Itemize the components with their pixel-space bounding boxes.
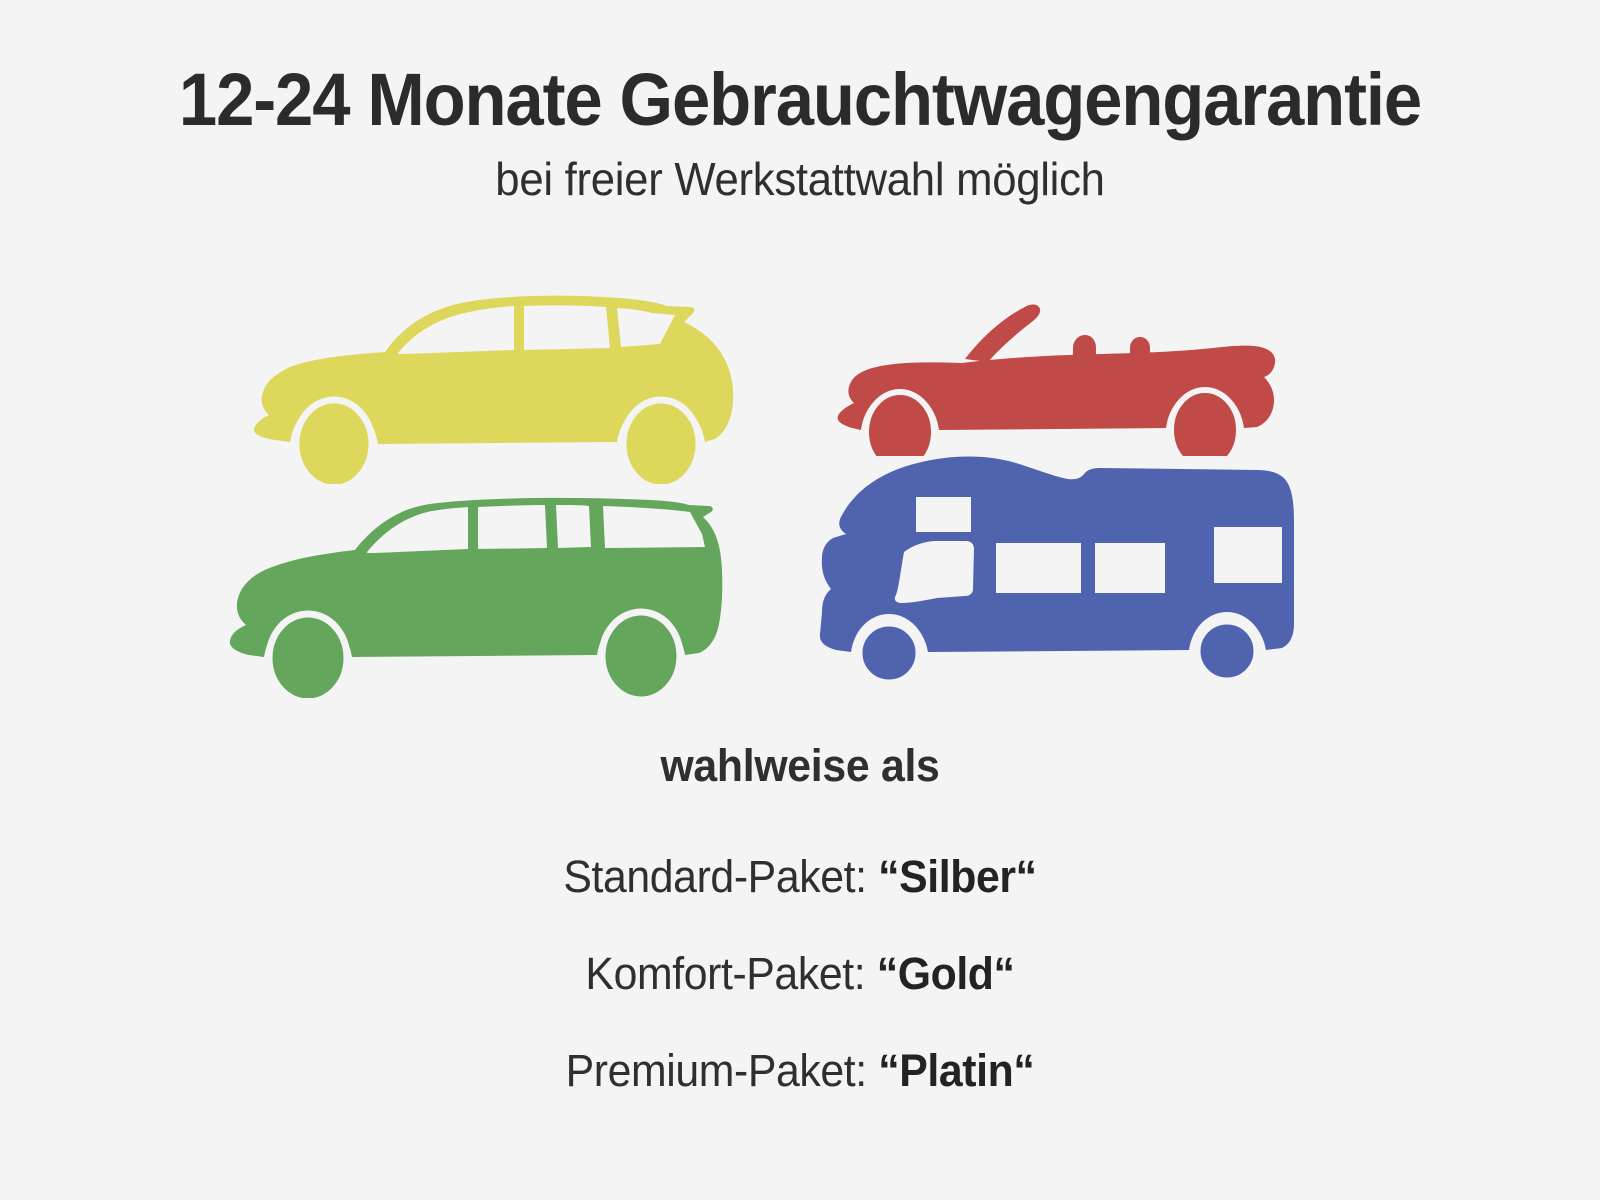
package-item-standard: Standard-Paket: “Silber“ bbox=[40, 854, 1560, 899]
page-title: 12-24 Monate Gebrauchtwagengarantie bbox=[56, 62, 1544, 137]
station-wagon-icon bbox=[215, 478, 750, 698]
page-subtitle: bei freier Werkstattwahl möglich bbox=[40, 155, 1560, 203]
motorhome-icon bbox=[800, 446, 1305, 681]
package-tier-komfort: “Gold“ bbox=[877, 948, 1015, 999]
headline-block: 12-24 Monate Gebrauchtwagengarantie bei … bbox=[0, 62, 1600, 204]
package-name-komfort: Komfort-Paket: bbox=[585, 948, 876, 999]
hatchback-car-icon bbox=[235, 284, 740, 484]
package-tier-premium: “Platin“ bbox=[878, 1045, 1034, 1096]
package-item-komfort: Komfort-Paket: “Gold“ bbox=[40, 951, 1560, 996]
packages-block: wahlweise als Standard-Paket: “Silber“ K… bbox=[0, 740, 1600, 1093]
promo-poster: 12-24 Monate Gebrauchtwagengarantie bei … bbox=[0, 0, 1600, 1200]
package-name-standard: Standard-Paket: bbox=[563, 851, 878, 902]
package-list: Standard-Paket: “Silber“ Komfort-Paket: … bbox=[0, 854, 1600, 1093]
convertible-car-icon bbox=[830, 296, 1285, 456]
package-name-premium: Premium-Paket: bbox=[566, 1045, 879, 1096]
package-tier-standard: “Silber“ bbox=[878, 851, 1037, 902]
vehicle-illustration-group bbox=[215, 278, 1365, 698]
package-item-premium: Premium-Paket: “Platin“ bbox=[40, 1048, 1560, 1093]
choice-label: wahlweise als bbox=[40, 740, 1560, 792]
